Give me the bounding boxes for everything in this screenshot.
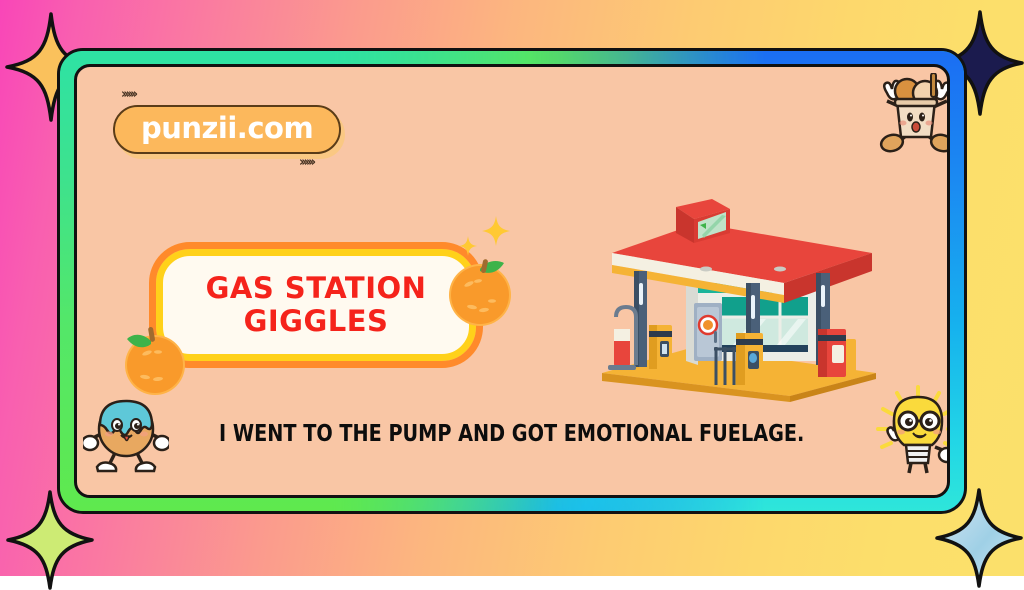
logo-pill[interactable]: punzii.com: [113, 105, 341, 154]
chevron-marks-bottom: ››››››: [299, 155, 313, 170]
title-line-1: GAS STATION: [206, 272, 427, 305]
poster-frame: ›››››› punzii.com ›››››› GAS STATION GIG…: [57, 48, 967, 514]
orange-fruit-icon-top: [442, 251, 520, 334]
ice-cream-cup-mascot-icon: [871, 73, 950, 158]
title-line-2: GIGGLES: [244, 305, 389, 338]
caption-text: I WENT TO THE PUMP AND GOT EMOTIONAL FUE…: [219, 421, 804, 447]
caption: I WENT TO THE PUMP AND GOT EMOTIONAL FUE…: [77, 421, 947, 447]
title-card: GAS STATION GIGGLES: [156, 249, 476, 361]
donut-mascot-icon: [83, 389, 169, 480]
chevron-marks-top: ››››››: [121, 87, 135, 102]
lightbulb-mascot-icon: [873, 385, 950, 482]
site-logo[interactable]: ›››››› punzii.com ››››››: [113, 105, 341, 154]
large-sparkle-icon: [481, 215, 511, 252]
poster-panel: ›››››› punzii.com ›››››› GAS STATION GIG…: [74, 64, 950, 498]
gas-station-illustration: [594, 197, 884, 402]
poster-canvas: ›››››› punzii.com ›››››› GAS STATION GIG…: [0, 0, 1024, 576]
logo-text: punzii.com: [141, 111, 313, 145]
